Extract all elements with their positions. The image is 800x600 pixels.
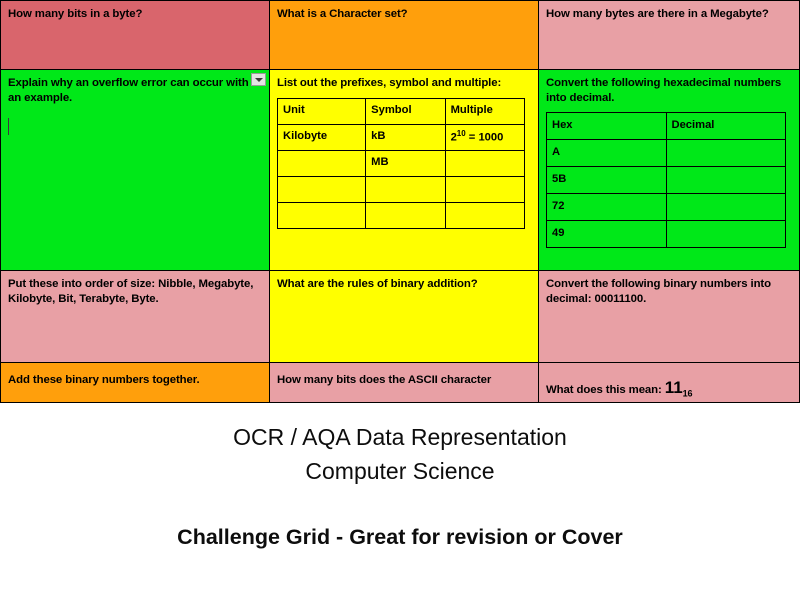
- table-row[interactable]: [278, 202, 525, 228]
- table-row[interactable]: Kilobyte kB 210 = 1000: [278, 124, 525, 150]
- cell-multiple[interactable]: [445, 202, 524, 228]
- column-header-multiple: Multiple: [445, 98, 524, 124]
- question-text: List out the prefixes, symbol and multip…: [277, 76, 531, 91]
- cell-unit[interactable]: [278, 176, 366, 202]
- question-text: How many bits in a byte?: [8, 7, 262, 22]
- cell-unit[interactable]: [278, 150, 366, 176]
- cell-multiple[interactable]: [445, 150, 524, 176]
- question-text: Add these binary numbers together.: [8, 373, 262, 388]
- table-row[interactable]: [278, 176, 525, 202]
- cell-decimal[interactable]: [666, 221, 786, 248]
- grid-cell-add-binary-numbers[interactable]: Add these binary numbers together.: [0, 362, 270, 403]
- table-row[interactable]: 49: [547, 221, 786, 248]
- caption-title-line1: OCR / AQA Data Representation: [0, 420, 800, 454]
- grid-cell-bits-in-a-byte[interactable]: How many bits in a byte?: [0, 0, 270, 70]
- cell-hex[interactable]: 72: [547, 194, 667, 221]
- cell-multiple[interactable]: [445, 176, 524, 202]
- table-row[interactable]: MB: [278, 150, 525, 176]
- cell-decimal[interactable]: [666, 167, 786, 194]
- question-text: What is a Character set?: [277, 7, 531, 22]
- grid-cell-ascii-character-bits[interactable]: How many bits does the ASCII character: [269, 362, 539, 403]
- caption-block: OCR / AQA Data Representation Computer S…: [0, 420, 800, 550]
- grid-cell-character-set[interactable]: What is a Character set?: [269, 0, 539, 70]
- caption-subtitle: Challenge Grid - Great for revision or C…: [0, 525, 800, 550]
- grid-cell-overflow-error[interactable]: Explain why an overflow error can occur …: [0, 69, 270, 271]
- table-row[interactable]: 5B: [547, 167, 786, 194]
- question-text: How many bits does the ASCII character: [277, 373, 531, 388]
- cell-symbol[interactable]: kB: [366, 124, 445, 150]
- cell-unit[interactable]: Kilobyte: [278, 124, 366, 150]
- caption-title-line2: Computer Science: [0, 454, 800, 488]
- cell-symbol[interactable]: [366, 202, 445, 228]
- table-header-row: Unit Symbol Multiple: [278, 98, 525, 124]
- question-text: What does this mean: 1116: [546, 377, 792, 400]
- grid-cell-binary-to-decimal[interactable]: Convert the following binary numbers int…: [538, 270, 800, 363]
- question-text: Convert the following hexadecimal number…: [546, 76, 792, 105]
- chevron-down-icon[interactable]: [251, 73, 266, 86]
- question-text: What are the rules of binary addition?: [277, 277, 531, 292]
- cell-hex[interactable]: A: [547, 140, 667, 167]
- multiple-rest: = 1000: [466, 132, 504, 144]
- table-row[interactable]: A: [547, 140, 786, 167]
- column-header-hex: Hex: [547, 113, 667, 140]
- column-header-decimal: Decimal: [666, 113, 786, 140]
- table-row[interactable]: 72: [547, 194, 786, 221]
- column-header-symbol: Symbol: [366, 98, 445, 124]
- question-label: What does this mean:: [546, 384, 662, 396]
- grid-cell-what-does-this-mean[interactable]: What does this mean: 1116: [538, 362, 800, 403]
- column-header-unit: Unit: [278, 98, 366, 124]
- grid-cell-binary-addition-rules[interactable]: What are the rules of binary addition?: [269, 270, 539, 363]
- cell-symbol[interactable]: [366, 176, 445, 202]
- cell-multiple[interactable]: 210 = 1000: [445, 124, 524, 150]
- table-header-row: Hex Decimal: [547, 113, 786, 140]
- cell-hex[interactable]: 49: [547, 221, 667, 248]
- hex-number: 11: [665, 378, 683, 397]
- hex-decimal-table[interactable]: Hex Decimal A 5B 72 49: [546, 112, 786, 248]
- prefixes-table[interactable]: Unit Symbol Multiple Kilobyte kB 210 = 1…: [277, 98, 525, 229]
- cell-hex[interactable]: 5B: [547, 167, 667, 194]
- cell-decimal[interactable]: [666, 194, 786, 221]
- challenge-grid: How many bits in a byte? What is a Chara…: [0, 0, 800, 403]
- cell-symbol[interactable]: MB: [366, 150, 445, 176]
- hex-subscript: 16: [683, 388, 693, 398]
- cell-unit[interactable]: [278, 202, 366, 228]
- question-text: Convert the following binary numbers int…: [546, 277, 792, 306]
- grid-cell-prefixes-table[interactable]: List out the prefixes, symbol and multip…: [269, 69, 539, 271]
- cell-decimal[interactable]: [666, 140, 786, 167]
- grid-cell-order-of-size[interactable]: Put these into order of size: Nibble, Me…: [0, 270, 270, 363]
- caption-title: OCR / AQA Data Representation Computer S…: [0, 420, 800, 488]
- grid-cell-hex-to-decimal[interactable]: Convert the following hexadecimal number…: [538, 69, 800, 271]
- question-text: Explain why an overflow error can occur …: [8, 76, 256, 105]
- multiple-exponent: 10: [457, 129, 466, 138]
- question-text: How many bytes are there in a Megabyte?: [546, 7, 792, 22]
- grid-cell-bytes-in-a-megabyte[interactable]: How many bytes are there in a Megabyte?: [538, 0, 800, 70]
- text-caret: [8, 118, 9, 135]
- question-text: Put these into order of size: Nibble, Me…: [8, 277, 262, 306]
